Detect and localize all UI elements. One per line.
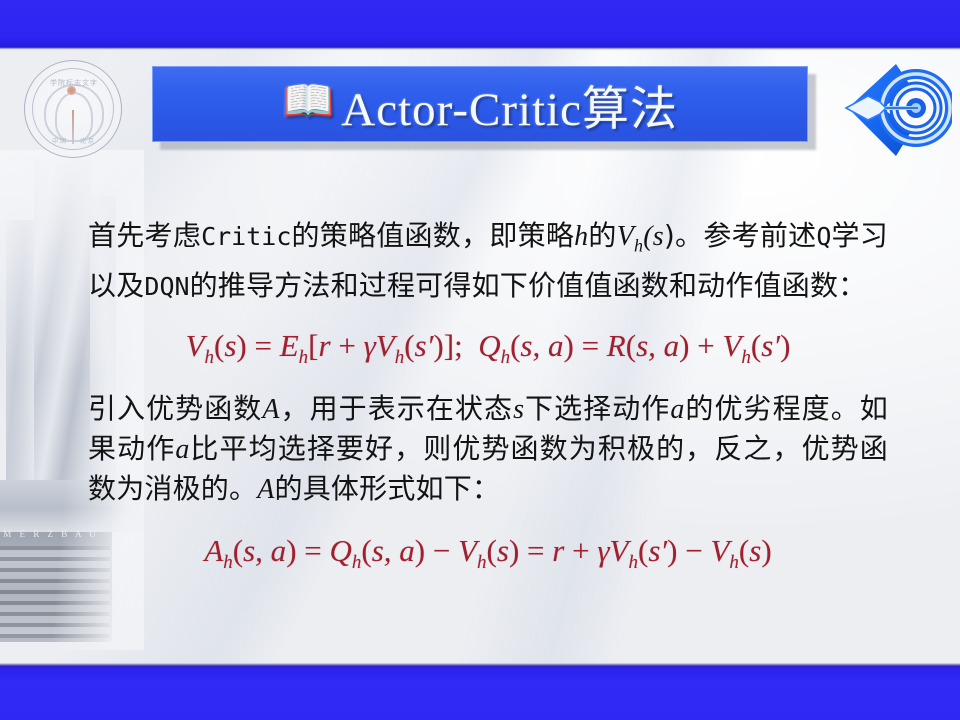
eq2-sub-h-4: h bbox=[628, 552, 638, 573]
eq2-open-1: ( bbox=[233, 533, 243, 568]
eq1-sub-h-1: h bbox=[205, 347, 215, 368]
eq1-equals-1: = bbox=[247, 328, 280, 363]
eq1-open-3: ( bbox=[510, 328, 520, 363]
title-banner: 📖 Actor-Critic算法 bbox=[152, 66, 808, 142]
eq1-close-1: ) bbox=[236, 328, 246, 363]
eq2-V-3: V bbox=[710, 533, 729, 568]
p2-seg5: 下选择动作 bbox=[524, 392, 670, 425]
eq1-open-4: ( bbox=[626, 328, 636, 363]
seal-motif-inner bbox=[55, 92, 93, 142]
eq2-gamma: γ bbox=[597, 533, 609, 568]
eq1-sprime-2: s′ bbox=[761, 328, 780, 363]
eq1-open-1: ( bbox=[214, 328, 224, 363]
p2-var-s: s bbox=[513, 394, 524, 425]
eq2-equals-2: = bbox=[519, 533, 552, 568]
eq2-sa-1: s, a bbox=[243, 533, 286, 568]
top-blue-band bbox=[0, 0, 960, 47]
equation-1: Vh(s) = Eh[r + γVh(s′)]; Qh(s, a) = R(s,… bbox=[88, 328, 888, 369]
open-book-icon: 📖 bbox=[282, 81, 335, 123]
institution-seal-logo: 学院标志文字 中国 · 北京 bbox=[22, 58, 126, 162]
eq2-close-5: ) bbox=[761, 533, 771, 568]
p1-var-s: s bbox=[653, 221, 664, 252]
p1-critic: Critic bbox=[201, 222, 291, 251]
eq1-close-5: ) bbox=[780, 328, 790, 363]
eq1-sub-h-3: h bbox=[395, 347, 405, 368]
slide-title: 📖 Actor-Critic算法 bbox=[282, 70, 678, 139]
slide-canvas: M E R Z B A U 学院标志文字 中国 · 北京 bbox=[0, 0, 960, 720]
eq1-bracket-close: ] bbox=[444, 328, 454, 363]
eq1-close-4: ) bbox=[679, 328, 689, 363]
p1-var-h: h bbox=[574, 221, 588, 252]
p1-seg3: 的策略值函数，即策略 bbox=[291, 219, 574, 252]
eq1-Q: Q bbox=[478, 328, 500, 363]
equation-2: Ah(s, a) = Qh(s, a) − Vh(s) = r + γVh(s′… bbox=[88, 533, 888, 574]
eq1-v: V bbox=[186, 328, 205, 363]
eq1-sub-h-4: h bbox=[501, 347, 511, 368]
p1-dqn: DQN bbox=[144, 272, 189, 301]
top-band-edge bbox=[0, 47, 960, 50]
eq2-sub-h-5: h bbox=[729, 552, 739, 573]
eq1-R: R bbox=[607, 328, 626, 363]
eq2-open-4: ( bbox=[638, 533, 648, 568]
p1-letter-Q: Q bbox=[816, 222, 831, 251]
eq2-A: A bbox=[204, 533, 223, 568]
eq1-r: r bbox=[319, 328, 331, 363]
bottom-blue-band bbox=[0, 667, 960, 720]
p2-var-A-2: A bbox=[257, 474, 274, 505]
eq2-s-2: s bbox=[749, 533, 761, 568]
eq2-sub-h-3: h bbox=[477, 552, 487, 573]
eq1-bracket-open: [ bbox=[308, 328, 318, 363]
eq1-sprime-1: s′ bbox=[415, 328, 434, 363]
eq1-sa-2: s, a bbox=[636, 328, 679, 363]
eq2-close-1: ) bbox=[286, 533, 296, 568]
eq2-open-3: ( bbox=[487, 533, 497, 568]
paragraph-2: 引入优势函数A，用于表示在状态s下选择动作a的优劣程度。如果动作a比平均选择要好… bbox=[88, 389, 888, 509]
eq1-close-3: ) bbox=[563, 328, 573, 363]
eq2-open-5: ( bbox=[739, 533, 749, 568]
p2-seg3: ，用于表示在状态 bbox=[280, 392, 513, 425]
eq1-sub-h-5: h bbox=[741, 347, 751, 368]
eq1-v-2: V bbox=[376, 328, 395, 363]
eq2-close-3: ) bbox=[509, 533, 519, 568]
p1-var-V: V bbox=[617, 221, 634, 252]
eq2-close-2: ) bbox=[415, 533, 425, 568]
p1-seg14: 的推导方法和过程可得如下价值值函数和动作值函数： bbox=[190, 269, 867, 302]
eq2-s-1: s bbox=[497, 533, 509, 568]
eq1-plus-2: + bbox=[689, 328, 722, 363]
eq2-sprime: s′ bbox=[648, 533, 667, 568]
paragraph-1: 首先考虑Critic的策略值函数，即策略h的Vh(s)。参考前述Q学习以及DQN… bbox=[88, 216, 888, 306]
eq1-s-1: s bbox=[224, 328, 236, 363]
p1-seg1: 首先考虑 bbox=[88, 219, 201, 252]
eq1-open-5: ( bbox=[751, 328, 761, 363]
p2-var-a-2: a bbox=[175, 434, 189, 465]
eq1-sub-h-2: h bbox=[299, 347, 309, 368]
eq2-V-1: V bbox=[458, 533, 477, 568]
eq1-equals-2: = bbox=[574, 328, 607, 363]
p2-var-A-1: A bbox=[262, 394, 279, 425]
eq2-V-2: V bbox=[610, 533, 629, 568]
p2-seg1: 引入优势函数 bbox=[88, 392, 262, 425]
p1-seg5: 的 bbox=[588, 219, 616, 252]
eq2-equals-1: = bbox=[297, 533, 330, 568]
p1-seg10: )。参考前述 bbox=[664, 219, 817, 252]
eq1-close-2: ) bbox=[433, 328, 443, 363]
eq1-gamma: γ bbox=[364, 328, 376, 363]
eq2-Q: Q bbox=[330, 533, 352, 568]
p2-seg11: 的具体形式如下： bbox=[275, 472, 501, 505]
eq1-open-2: ( bbox=[404, 328, 414, 363]
p1-sub-h: h bbox=[634, 236, 643, 256]
eq1-sa-1: s, a bbox=[520, 328, 563, 363]
eq2-sub-h-2: h bbox=[352, 552, 362, 573]
eq1-plus: + bbox=[331, 328, 364, 363]
eq2-close-4: ) bbox=[667, 533, 677, 568]
eq2-sub-h-1: h bbox=[223, 552, 233, 573]
eq1-semicolon: ; bbox=[454, 328, 463, 363]
eq2-open-2: ( bbox=[361, 533, 371, 568]
seal-ring-text-top: 学院标志文字 bbox=[22, 78, 126, 88]
eq2-plus: + bbox=[564, 533, 597, 568]
seal-ring-text-bottom: 中国 · 北京 bbox=[22, 136, 126, 145]
eq1-E: E bbox=[280, 328, 299, 363]
eq2-minus-1: − bbox=[425, 533, 458, 568]
arrow-target-icon bbox=[842, 58, 952, 162]
eq2-sa-2: s, a bbox=[372, 533, 415, 568]
eq2-minus-2: − bbox=[678, 533, 711, 568]
p2-var-a-1: a bbox=[670, 394, 684, 425]
p1-paren-open: ( bbox=[643, 221, 653, 252]
slide-title-text: Actor-Critic算法 bbox=[341, 70, 678, 139]
slide-body: 首先考虑Critic的策略值函数，即策略h的Vh(s)。参考前述Q学习以及DQN… bbox=[88, 216, 888, 574]
eq2-r: r bbox=[552, 533, 564, 568]
eq1-v-3: V bbox=[722, 328, 741, 363]
